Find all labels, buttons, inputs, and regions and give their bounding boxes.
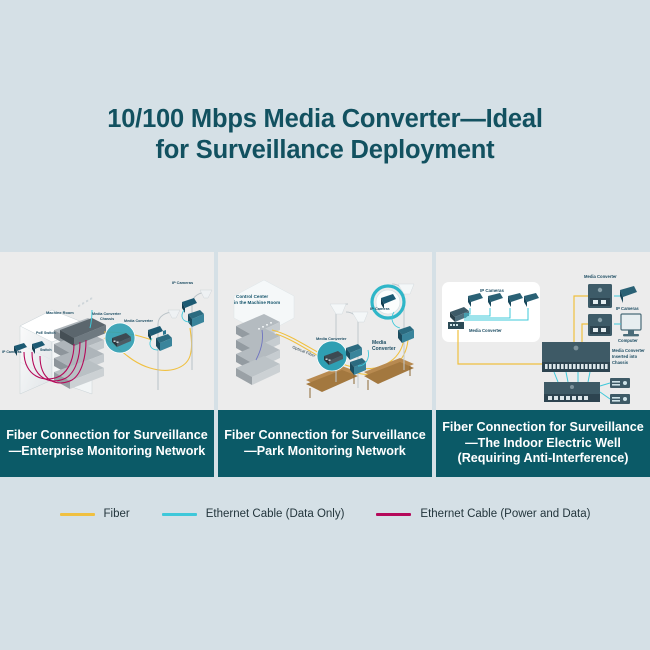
panel-park[interactable]: Control Center in the Machine Room <box>218 252 432 477</box>
page-title: 10/100 Mbps Media Converter—Ideal for Su… <box>0 104 650 166</box>
panel-indoor-figure: IP Cameras Media Converter <box>436 252 650 410</box>
park-diagram: Control Center in the Machine Room <box>218 252 432 410</box>
svg-text:Machine Room: Machine Room <box>46 310 74 315</box>
svg-text:Converter: Converter <box>372 346 396 352</box>
svg-text:IP Cameras: IP Cameras <box>480 288 504 293</box>
svg-text:Media Converter: Media Converter <box>124 319 153 323</box>
panel-enterprise[interactable]: Machine Room PoE Switch Switch IP Camera… <box>0 252 214 477</box>
svg-text:Control Center: Control Center <box>236 294 268 299</box>
svg-text:Switch: Switch <box>40 348 52 352</box>
legend-swatch-ethernet-power-data <box>376 513 411 516</box>
svg-text:Computer: Computer <box>618 338 638 343</box>
svg-text:in the Machine Room: in the Machine Room <box>234 300 280 305</box>
legend-swatch-fiber <box>60 513 95 516</box>
panel-enterprise-figure: Machine Room PoE Switch Switch IP Camera… <box>0 252 214 410</box>
svg-text:Media Converter: Media Converter <box>92 312 121 316</box>
indoor-diagram: IP Cameras Media Converter <box>436 252 648 410</box>
panel-enterprise-caption: Fiber Connection for Surveillance—Enterp… <box>0 410 214 477</box>
svg-text:IP Cameras: IP Cameras <box>172 280 193 285</box>
legend-item-ethernet-power-data: Ethernet Cable (Power and Data) <box>376 508 590 520</box>
enterprise-diagram: Machine Room PoE Switch Switch IP Camera… <box>0 252 214 410</box>
page-title-line-2: for Surveillance Deployment <box>0 135 650 166</box>
legend-label-ethernet-data: Ethernet Cable (Data Only) <box>206 508 345 520</box>
page-title-line-1: 10/100 Mbps Media Converter—Ideal <box>0 104 650 135</box>
legend: Fiber Ethernet Cable (Data Only) Etherne… <box>0 508 650 520</box>
svg-text:Media Converter: Media Converter <box>316 336 347 341</box>
panel-row: Machine Room PoE Switch Switch IP Camera… <box>0 252 650 477</box>
svg-text:Media Converter: Media Converter <box>612 348 645 353</box>
svg-text:IP Cameras: IP Cameras <box>616 306 639 311</box>
panel-indoor-caption: Fiber Connection for Surveillance—The In… <box>436 410 650 477</box>
legend-swatch-ethernet-data <box>162 513 197 516</box>
svg-text:Chassis: Chassis <box>612 360 629 365</box>
svg-text:Inserted into: Inserted into <box>612 354 638 359</box>
legend-label-fiber: Fiber <box>104 508 130 520</box>
legend-label-ethernet-power-data: Ethernet Cable (Power and Data) <box>420 508 590 520</box>
svg-text:Chassis: Chassis <box>100 317 114 321</box>
legend-item-ethernet-data: Ethernet Cable (Data Only) <box>162 508 345 520</box>
svg-text:Media Converter: Media Converter <box>584 274 617 279</box>
svg-text:Optical Fiber: Optical Fiber <box>292 344 317 358</box>
svg-text:IP Cameras: IP Cameras <box>2 350 22 354</box>
legend-item-fiber: Fiber <box>60 508 130 520</box>
panel-park-figure: Control Center in the Machine Room <box>218 252 432 410</box>
svg-text:IP Camera: IP Camera <box>370 306 390 311</box>
panel-indoor-electric-well[interactable]: IP Cameras Media Converter <box>436 252 650 477</box>
svg-text:Media Converter: Media Converter <box>469 328 502 333</box>
panel-park-caption: Fiber Connection for Surveillance—Park M… <box>218 410 432 477</box>
svg-text:PoE Switch: PoE Switch <box>36 331 56 335</box>
